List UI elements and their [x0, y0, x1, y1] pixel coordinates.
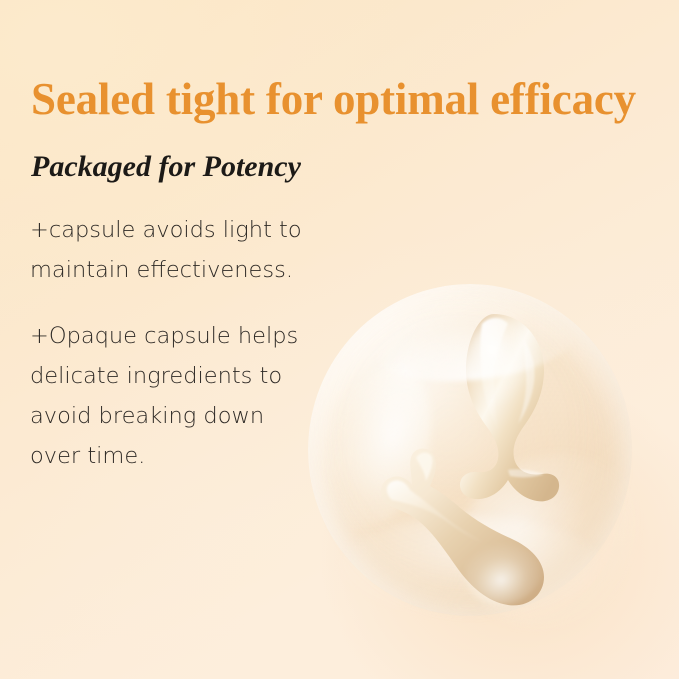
benefit-line: maintain effectiveness. — [30, 250, 350, 290]
subheading: Packaged for Potency — [31, 150, 301, 183]
benefit-paragraph-2: +Opaque capsule helps delicate ingredien… — [30, 316, 350, 476]
benefit-paragraph-1: +capsule avoids light to maintain effect… — [30, 210, 350, 290]
product-benefit-poster: Sealed tight for optimal efficacy Packag… — [0, 0, 679, 679]
benefit-line: avoid breaking down — [30, 396, 350, 436]
benefit-line: +capsule avoids light to — [30, 210, 350, 250]
benefit-list: +capsule avoids light to maintain effect… — [30, 210, 350, 476]
benefit-line: +Opaque capsule helps — [30, 316, 350, 356]
serum-droplet-sphere — [308, 284, 632, 616]
page-title: Sealed tight for optimal efficacy — [31, 76, 671, 124]
benefit-line: delicate ingredients to — [30, 356, 350, 396]
benefit-line: over time. — [30, 436, 350, 476]
